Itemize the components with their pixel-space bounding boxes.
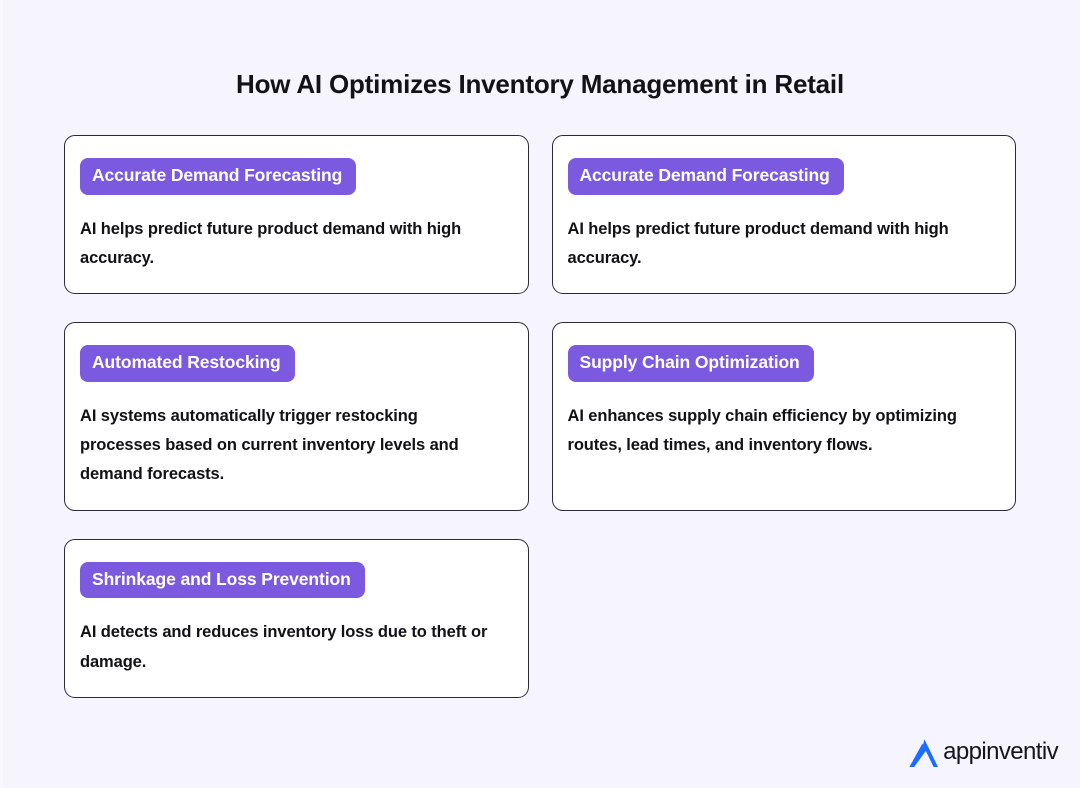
card-body: AI helps predict future product demand w… [568,215,988,274]
card-accurate-demand-forecasting-2[interactable]: Accurate Demand Forecasting AI helps pre… [552,135,1017,294]
card-body: AI enhances supply chain efficiency by o… [568,402,988,461]
card-badge: Automated Restocking [80,345,295,382]
appinventiv-logo: appinventiv [907,736,1058,770]
cards-row-3: Shrinkage and Loss Prevention AI detects… [64,539,1016,698]
card-body: AI systems automatically trigger restock… [80,402,500,490]
cards-grid: Accurate Demand Forecasting AI helps pre… [64,135,1016,726]
cards-row-2: Automated Restocking AI systems automati… [64,322,1016,511]
left-edge-stripe [0,0,3,788]
card-supply-chain-optimization[interactable]: Supply Chain Optimization AI enhances su… [552,322,1017,511]
card-badge: Accurate Demand Forecasting [568,158,844,195]
card-body: AI helps predict future product demand w… [80,215,500,274]
card-body: AI detects and reduces inventory loss du… [80,618,500,677]
card-badge: Supply Chain Optimization [568,345,814,382]
card-automated-restocking[interactable]: Automated Restocking AI systems automati… [64,322,529,511]
page-title: How AI Optimizes Inventory Management in… [0,69,1080,100]
card-badge: Shrinkage and Loss Prevention [80,562,365,599]
cards-row-1: Accurate Demand Forecasting AI helps pre… [64,135,1016,294]
card-shrinkage-and-loss-prevention[interactable]: Shrinkage and Loss Prevention AI detects… [64,539,529,698]
card-accurate-demand-forecasting-1[interactable]: Accurate Demand Forecasting AI helps pre… [64,135,529,294]
appinventiv-a-mark-icon [907,736,941,770]
card-placeholder-empty [552,539,1017,698]
card-badge: Accurate Demand Forecasting [80,158,356,195]
logo-wordmark: appinventiv [943,740,1058,766]
